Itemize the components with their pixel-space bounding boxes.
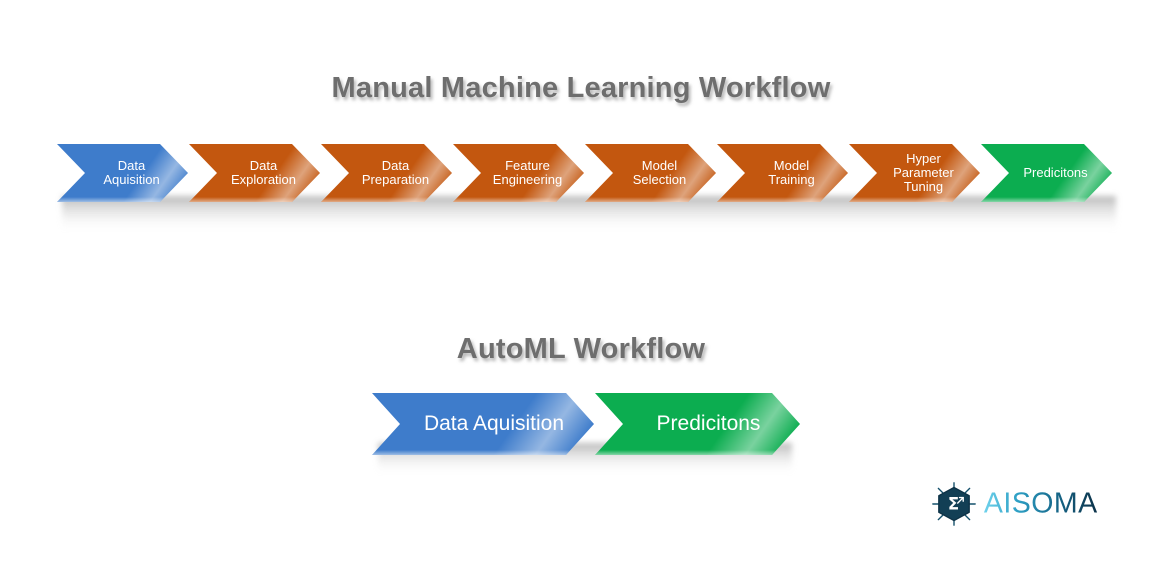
workflow-step-label: Data Exploration: [209, 159, 300, 187]
sigma-hexagon-icon: Σ: [931, 481, 977, 527]
automl-step-data-aquisition[interactable]: Data Aquisition: [372, 393, 594, 455]
automl-step-label: Predicitons: [631, 413, 765, 436]
svg-text:Σ: Σ: [948, 495, 959, 514]
automl-step-label: Data Aquisition: [398, 413, 568, 436]
aisoma-wordmark-text: AISOMA: [984, 488, 1098, 520]
workflow-step-hyper-parameter-tuning[interactable]: Hyper Parameter Tuning: [849, 144, 980, 202]
workflow-step-model-selection[interactable]: Model Selection: [585, 144, 716, 202]
workflow-step-data-aquisition[interactable]: Data Aquisition: [57, 144, 188, 202]
workflow-step-label: Predicitons: [1001, 166, 1091, 180]
workflow-step-predicitons[interactable]: Predicitons: [981, 144, 1112, 202]
workflow-step-feature-engineering[interactable]: Feature Engineering: [453, 144, 584, 202]
automl-step-predicitons[interactable]: Predicitons: [595, 393, 800, 455]
aisoma-logo: Σ AISOMA: [931, 479, 1121, 529]
aisoma-wordmark: AISOMA: [983, 482, 1121, 526]
workflow-step-data-exploration[interactable]: Data Exploration: [189, 144, 320, 202]
workflow-step-data-preparation[interactable]: Data Preparation: [321, 144, 452, 202]
slide-canvas: Manual Machine Learning Workflow Data Aq…: [0, 0, 1152, 562]
workflow-step-label: Model Training: [746, 159, 818, 187]
workflow-step-label: Model Selection: [611, 159, 690, 187]
automl-workflow-title: AutoML Workflow: [5, 333, 1152, 366]
workflow-step-label: Feature Engineering: [471, 159, 566, 187]
workflow-step-label: Data Preparation: [340, 159, 433, 187]
manual-workflow-chevron-row: Data Aquisition Data Exploration Data Pr…: [57, 144, 1113, 202]
manual-workflow-title: Manual Machine Learning Workflow: [5, 72, 1152, 105]
workflow-step-model-training[interactable]: Model Training: [717, 144, 848, 202]
workflow-step-label: Hyper Parameter Tuning: [871, 152, 958, 194]
workflow-step-label: Data Aquisition: [81, 159, 163, 187]
automl-workflow-chevron-row: Data Aquisition Predicitons: [372, 393, 801, 455]
